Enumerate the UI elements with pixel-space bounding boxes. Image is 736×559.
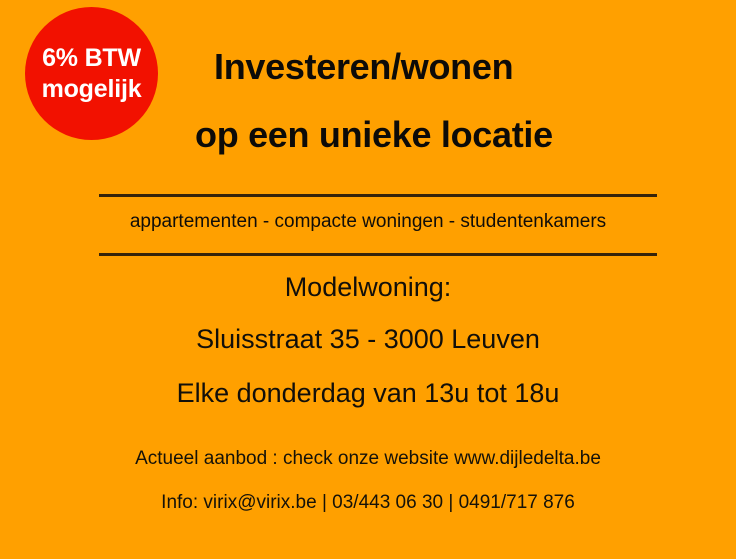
showhome-opening-hours: Elke donderdag van 13u tot 18u xyxy=(0,378,736,409)
showhome-label: Modelwoning: xyxy=(0,272,736,303)
btw-badge-line-2: mogelijk xyxy=(42,74,142,105)
headline-line-1: Investeren/wonen xyxy=(214,46,686,88)
showhome-address: Sluisstraat 35 - 3000 Leuven xyxy=(0,324,736,355)
footer-website-line: Actueel aanbod : check onze website www.… xyxy=(0,448,736,470)
footer-block: Actueel aanbod : check onze website www.… xyxy=(0,448,736,514)
footer-contact-line: Info: virix@virix.be | 03/443 06 30 | 04… xyxy=(0,492,736,514)
showhome-block: Modelwoning: Sluisstraat 35 - 3000 Leuve… xyxy=(0,272,736,409)
divider-bottom xyxy=(99,253,657,256)
property-types-subtitle: appartementen - compacte woningen - stud… xyxy=(0,211,736,233)
headline-block: Investeren/wonen op een unieke locatie xyxy=(186,46,686,156)
advertisement-poster: 6% BTW mogelijk Investeren/wonen op een … xyxy=(0,0,736,559)
divider-top xyxy=(99,194,657,197)
headline-line-2: op een unieke locatie xyxy=(195,114,686,156)
btw-badge-line-1: 6% BTW xyxy=(42,43,141,74)
btw-badge: 6% BTW mogelijk xyxy=(25,7,158,140)
